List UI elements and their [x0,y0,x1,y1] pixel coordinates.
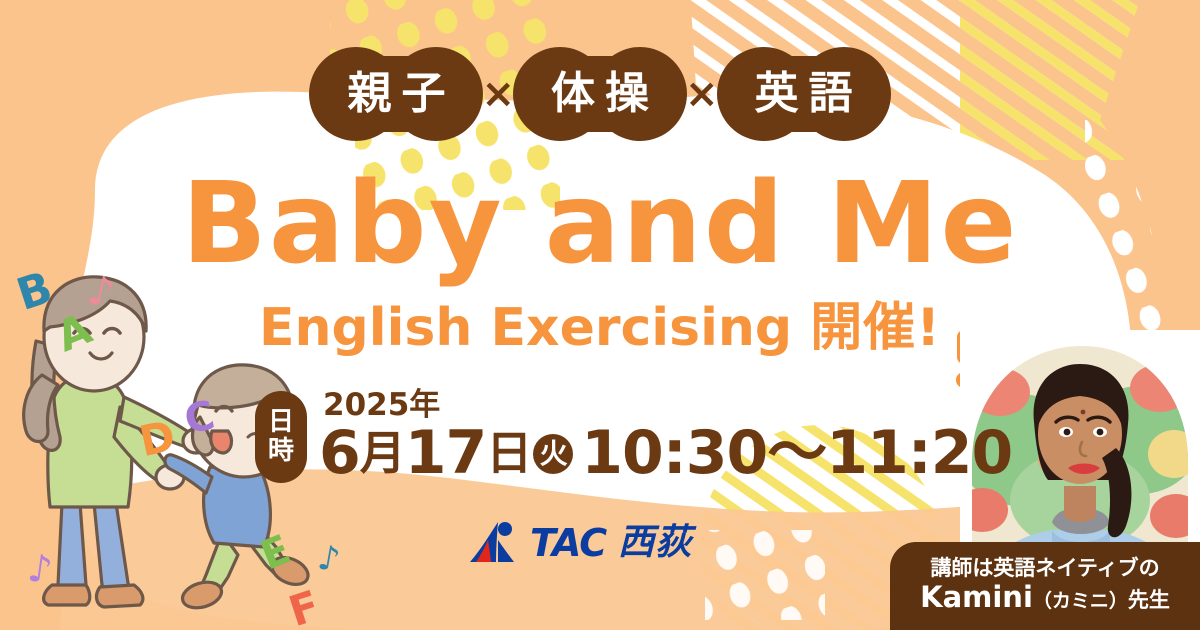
tac-logo-branch: 西荻 [618,525,692,561]
badge-eigo-label: 英語 [723,72,885,116]
badge-eigo: 英語 [723,72,885,116]
times-separator-2: × [685,74,719,114]
decor-music-note-1: ♪ [84,270,117,314]
event-date-time: 6 月 17 日 火 10:30〜11:20 [319,423,1012,484]
decor-music-note-2: ♪ [315,540,342,577]
decor-letter-b: B [12,266,58,318]
instructor-caption: 講師は英語ネイティブの Kamini（カミニ）先生 [890,542,1200,630]
decor-letter-f: F [284,585,324,630]
decor-letter-a: A [51,307,97,358]
white-dots-bottomleft [700,520,830,630]
tac-logo-brand: TAC [530,524,606,562]
decor-letter-e: E [256,529,296,576]
instructor-honorific: 先生 [1128,588,1170,612]
datetime-label-line2: 時 [268,438,294,465]
headline-badge-row: 親子 × 体操 × 英語 [0,72,1200,116]
tac-mountain-icon [468,520,524,566]
datetime-label-badge: 日 時 [255,391,307,483]
event-weekday-badge: 火 [533,434,573,474]
instructor-caption-line1: 講師は英語ネイティブの [930,556,1159,581]
badge-taisou: 体操 [519,72,681,116]
decor-music-note-3: ♪ [25,548,54,589]
event-datetime: 日 時 2025年 6 月 17 日 火 10:30〜11:20 [255,390,1012,484]
instructor-name-kana: （カミニ） [1033,590,1128,612]
badge-oyako: 親子 [315,72,477,116]
event-month: 6 [319,423,360,484]
instructor-name: Kamini [920,580,1033,614]
event-time: 10:30〜11:20 [581,423,1012,484]
badge-taisou-label: 体操 [519,72,681,116]
tac-logo: TAC 西荻 [468,520,692,566]
event-day-unit: 日 [486,430,531,477]
decor-letter-c: C [181,395,218,440]
poster-root: 親子 × 体操 × 英語 Baby and Me English Exercis… [0,0,1200,630]
datetime-values: 2025年 6 月 17 日 火 10:30〜11:20 [319,390,1012,484]
instructor-caption-line2: Kamini（カミニ）先生 [920,581,1170,614]
event-month-unit: 月 [360,430,405,477]
datetime-label-line1: 日 [268,409,294,436]
event-day: 17 [405,423,487,484]
times-separator-1: × [481,74,515,114]
decor-letter-d: D [136,415,179,463]
page-subtitle-jp: 開催! [810,298,941,358]
badge-oyako-label: 親子 [315,72,477,116]
event-year: 2025年 [323,390,1012,421]
